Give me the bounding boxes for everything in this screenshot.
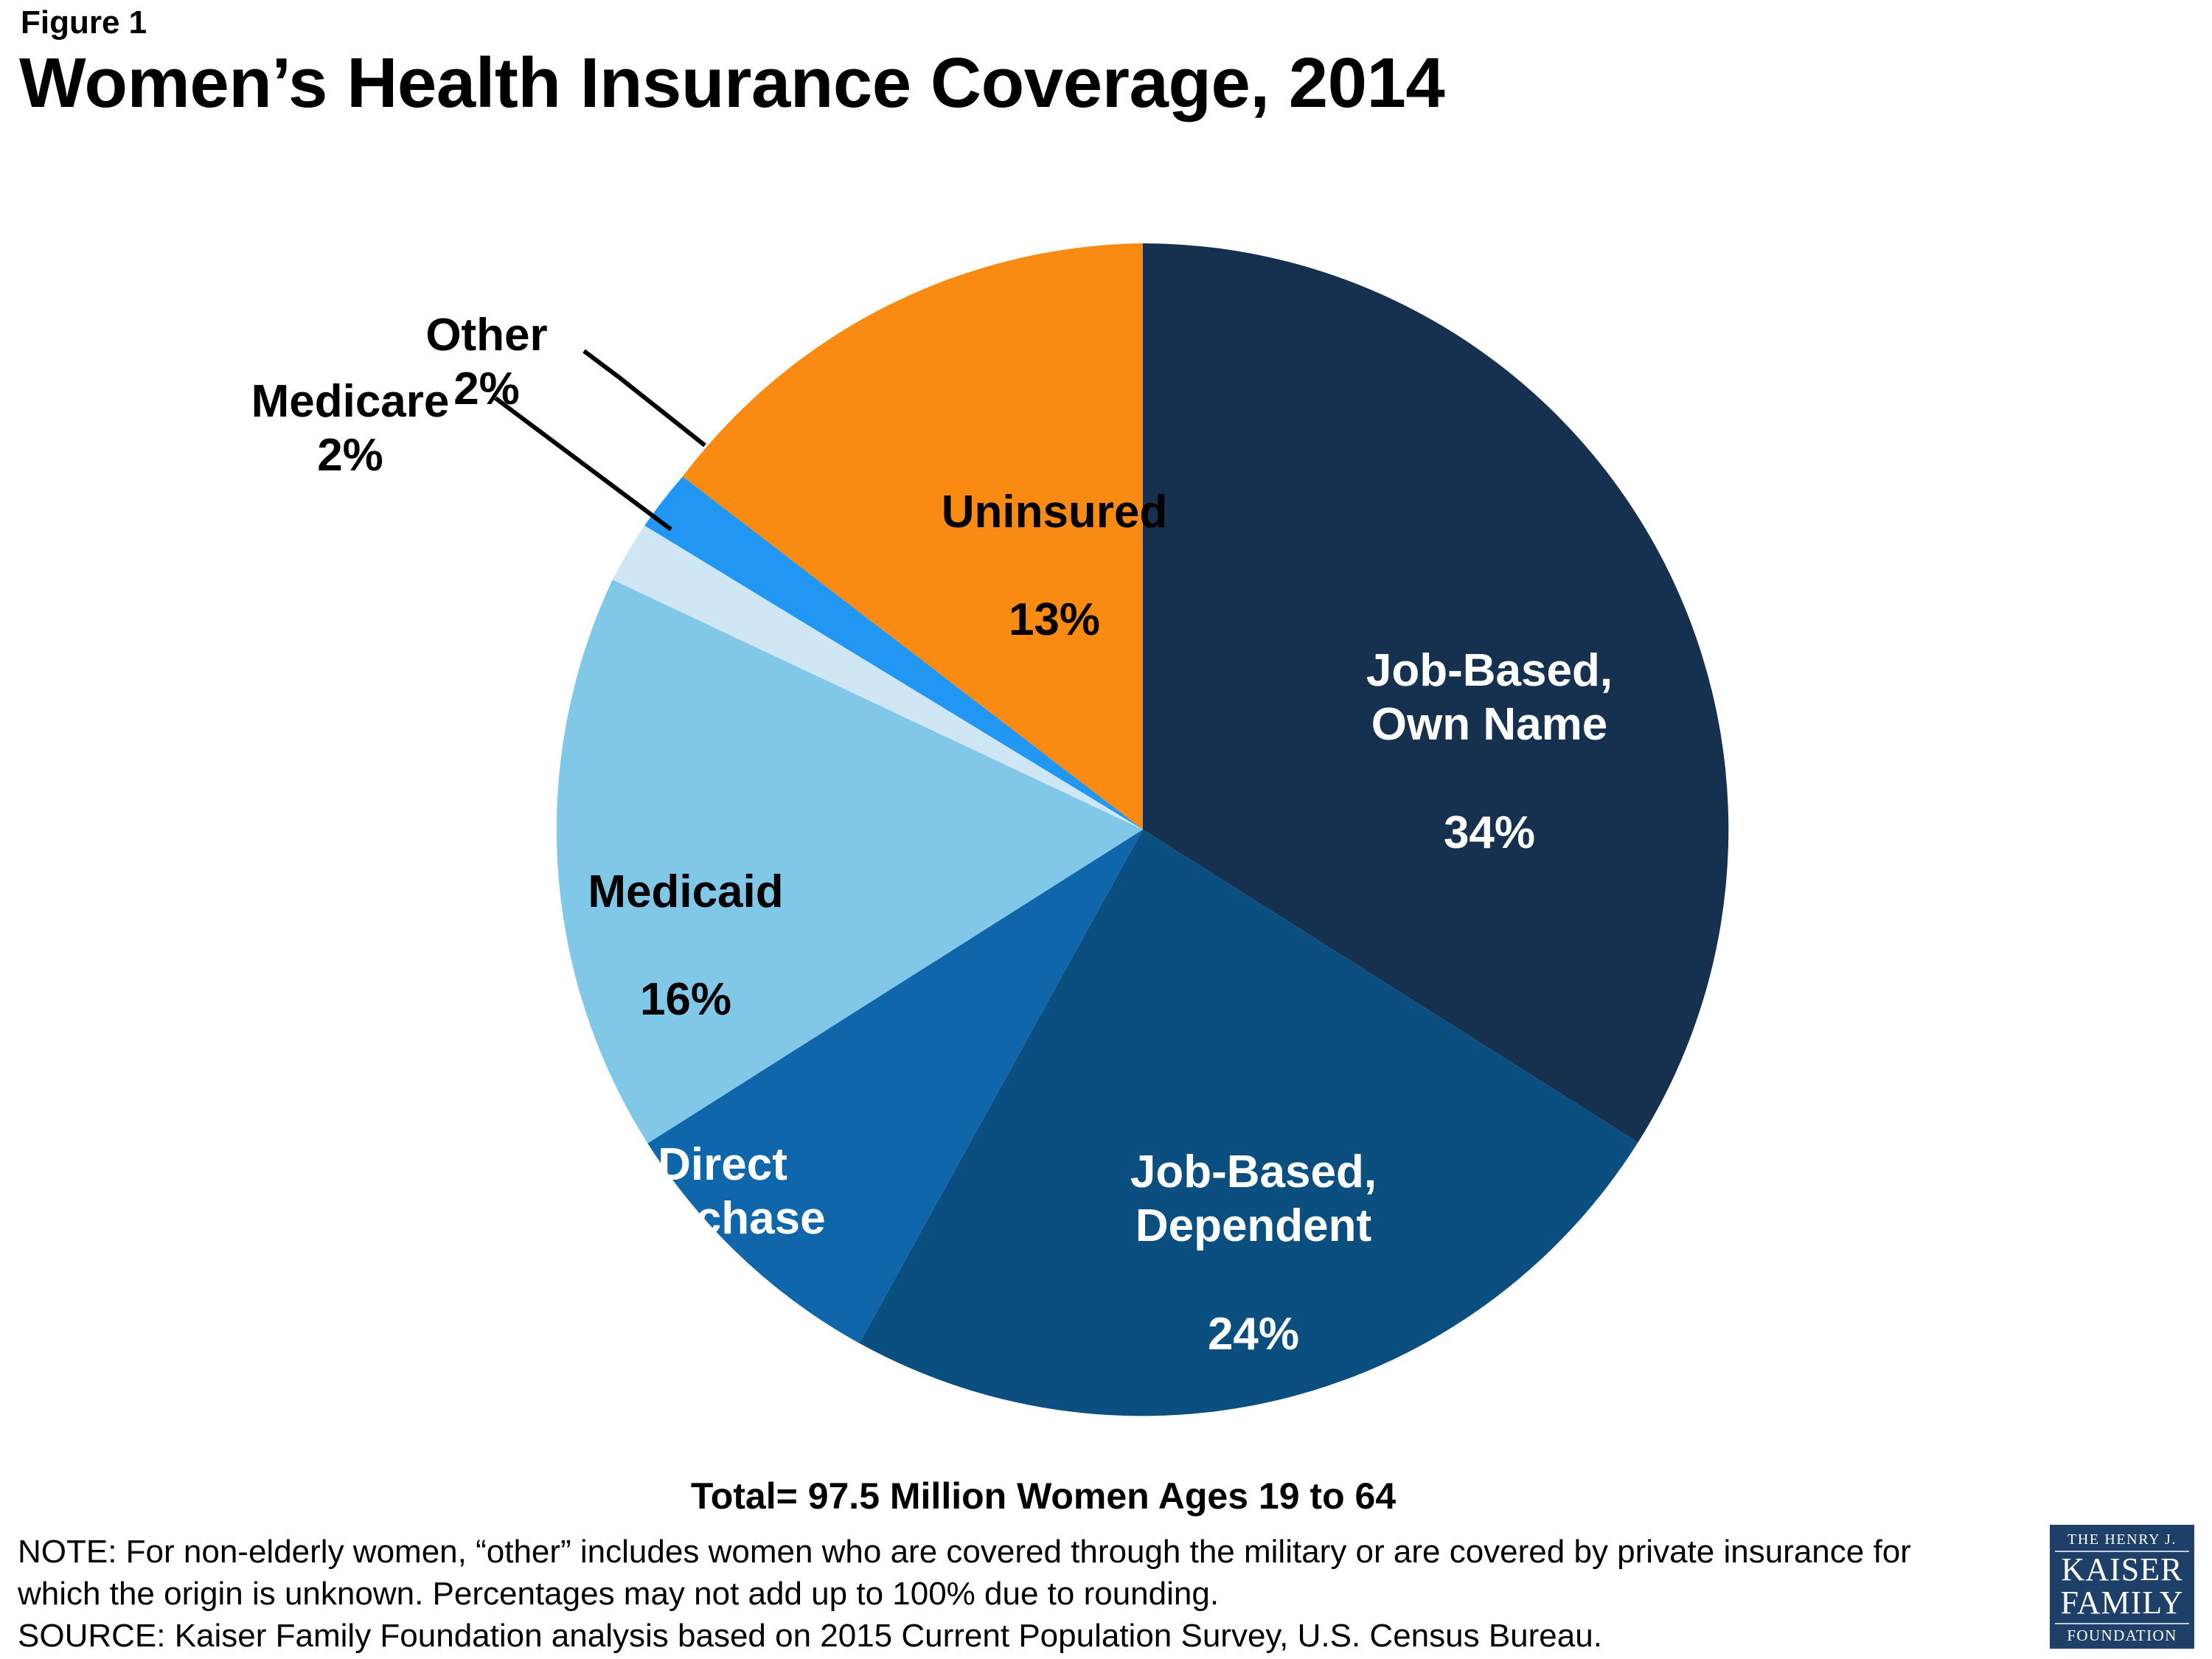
- logo-line-kaiser: KAISER: [2055, 1554, 2189, 1587]
- slice-label-percent: 2%: [317, 430, 383, 481]
- logo-line-the-henry-j: THE HENRY J.: [2055, 1531, 2189, 1552]
- footnotes: NOTE: For non-elderly women, “other” inc…: [18, 1531, 2038, 1658]
- note-line-2: which the origin is unknown. Percentages…: [18, 1573, 2038, 1615]
- leader-line-medicare: [495, 398, 671, 529]
- note-line-1: NOTE: For non-elderly women, “other” inc…: [18, 1531, 2038, 1573]
- slice-label-name: Medicare: [251, 376, 450, 427]
- figure-page: Figure 1 Women’s Health Insurance Covera…: [0, 0, 2212, 1659]
- slice-callout-medicare: Medicare 2%: [229, 321, 472, 482]
- leader-line-other: [584, 351, 705, 445]
- pie-chart-svg: [0, 0, 2212, 1659]
- pie-chart: Job-Based, Own Name 34% Job-Based, Depen…: [0, 0, 2212, 1659]
- chart-total-caption: Total= 97.5 Million Women Ages 19 to 64: [0, 1475, 2087, 1517]
- source-line: SOURCE: Kaiser Family Foundation analysi…: [18, 1615, 2038, 1657]
- logo-line-foundation: FOUNDATION: [2055, 1627, 2189, 1645]
- kaiser-family-foundation-logo: THE HENRY J. KAISER FAMILY FOUNDATION: [2050, 1525, 2194, 1649]
- logo-line-family: FAMILY: [2055, 1587, 2189, 1624]
